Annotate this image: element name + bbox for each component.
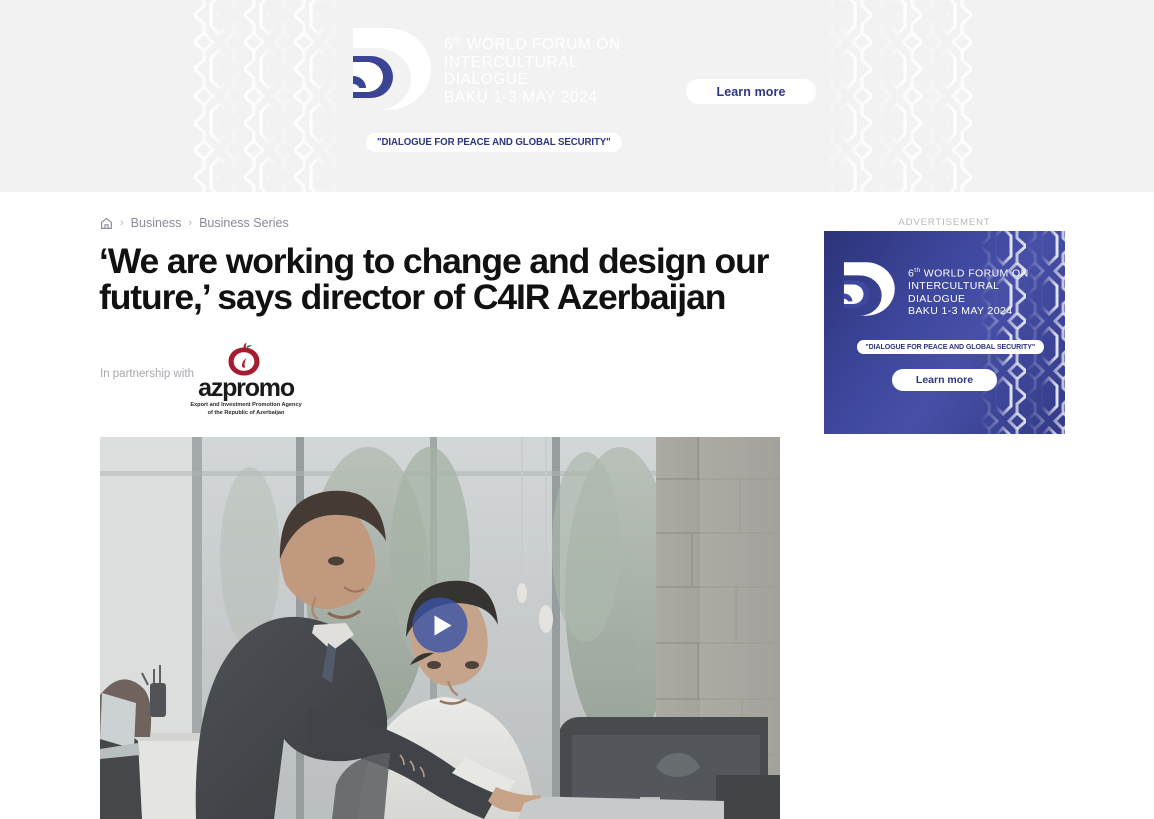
sidebar-forum-line1-rest: WORLD FORUM ON: [920, 268, 1028, 280]
partnership-label: In partnership with: [100, 368, 194, 380]
breadcrumb-item-business-series[interactable]: Business Series: [199, 216, 289, 230]
dialogue-d-logo-icon: [841, 261, 899, 317]
sidebar-forum-line4: BAKU 1-3 MAY 2024: [908, 305, 1029, 318]
forum-line3: DIALOGUE: [444, 71, 621, 89]
sidebar-forum-line2: INTERCULTURAL: [908, 280, 1029, 293]
play-button[interactable]: [413, 598, 468, 653]
ornament-pattern-right-icon: [822, 0, 972, 192]
breadcrumb: › Business › Business Series: [100, 216, 289, 230]
leaderboard-ad-banner[interactable]: 6th WORLD FORUM ON INTERCULTURAL DIALOGU…: [194, 0, 972, 192]
azpromo-tagline-line1: Export and Investment Promotion Agency: [190, 402, 301, 408]
azpromo-wordmark: azpromo: [186, 374, 306, 403]
sidebar-forum-line3: DIALOGUE: [908, 293, 1029, 306]
leaderboard-ad-tagline: "DIALOGUE FOR PEACE AND GLOBAL SECURITY": [366, 133, 622, 152]
dialogue-d-logo-icon: [349, 26, 437, 112]
breadcrumb-separator-1: ›: [120, 217, 124, 229]
azpromo-tagline-line2: of the Republic of Azerbaijan: [208, 410, 285, 416]
leaderboard-learn-more-button[interactable]: Learn more: [686, 79, 816, 104]
forum-line1-rest: WORLD FORUM ON: [462, 36, 621, 53]
forum-line4: BAKU 1-3 MAY 2024: [444, 89, 621, 107]
sidebar-ad-tagline: "DIALOGUE FOR PEACE AND GLOBAL SECURITY": [857, 340, 1043, 354]
sidebar-ad-text: 6th WORLD FORUM ON INTERCULTURAL DIALOGU…: [908, 265, 1029, 318]
azpromo-logo[interactable]: azpromo Export and Investment Promotion …: [186, 340, 306, 422]
home-icon[interactable]: [100, 217, 113, 230]
leaderboard-ad-text: 6th WORLD FORUM ON INTERCULTURAL DIALOGU…: [444, 32, 621, 106]
article-video-player[interactable]: [100, 437, 780, 819]
breadcrumb-separator-2: ›: [188, 217, 192, 229]
ornament-pattern-sidebar-icon: [980, 231, 1065, 434]
breadcrumb-item-business[interactable]: Business: [131, 216, 182, 230]
azpromo-tagline: Export and Investment Promotion Agency o…: [186, 402, 306, 417]
play-icon: [434, 615, 451, 635]
forum-ordinal: 6: [444, 36, 453, 53]
azpromo-pomegranate-icon: [224, 342, 264, 378]
forum-line2: INTERCULTURAL: [444, 54, 621, 72]
ornament-pattern-left-icon: [194, 0, 344, 192]
page-title: ‘We are working to change and design our…: [99, 244, 769, 315]
partnership-block: In partnership with azpromo Export and I…: [100, 340, 400, 422]
forum-ordinal-suffix: th: [453, 35, 462, 45]
top-ad-strip: 6th WORLD FORUM ON INTERCULTURAL DIALOGU…: [0, 0, 1154, 192]
sidebar-ad-banner[interactable]: 6th WORLD FORUM ON INTERCULTURAL DIALOGU…: [824, 231, 1065, 434]
sidebar-learn-more-button[interactable]: Learn more: [892, 369, 997, 391]
advertisement-label: ADVERTISEMENT: [824, 217, 1065, 228]
article-page: › Business › Business Series ‘We are wor…: [0, 192, 1154, 819]
